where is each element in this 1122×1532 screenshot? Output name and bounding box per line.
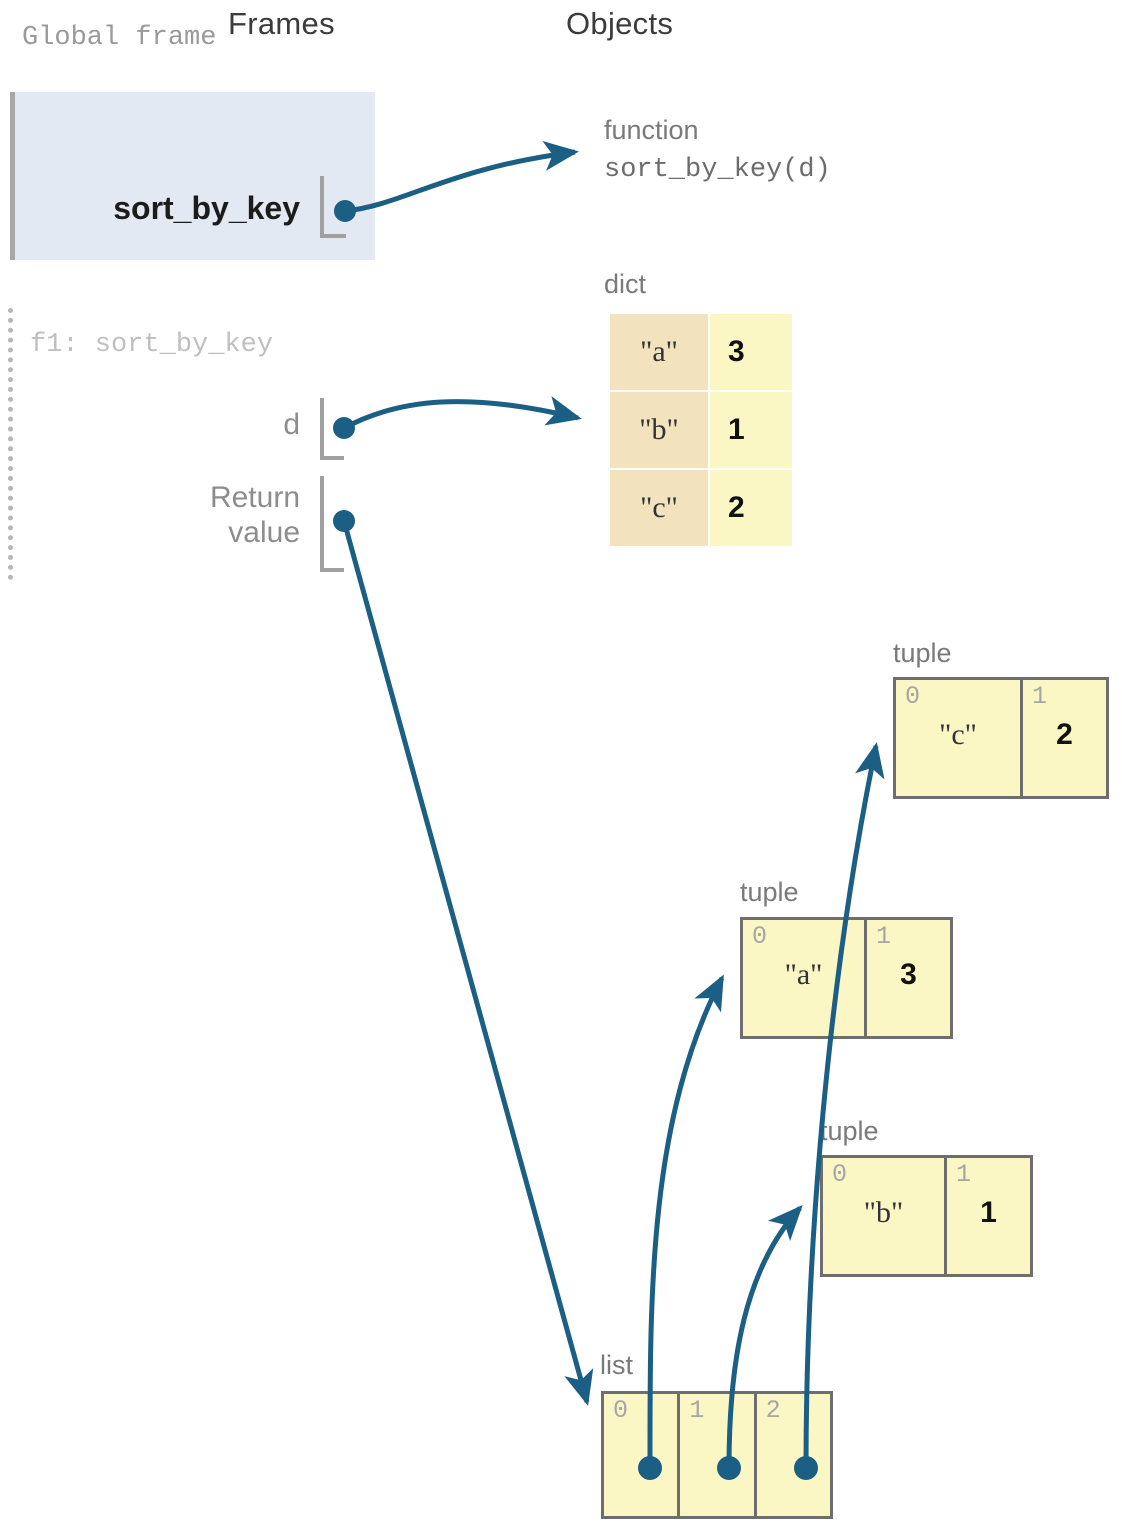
dict-table: "a" 3 "b" 1 "c" 2 <box>608 312 794 548</box>
tuple-value: "c" <box>896 718 1020 752</box>
list-object-label: list <box>600 1350 633 1381</box>
tuple-a-box: 0 "a" 1 3 <box>740 917 953 1039</box>
dict-value-cell: 3 <box>710 314 792 390</box>
list-index-label: 1 <box>689 1396 704 1425</box>
list-index-label: 0 <box>613 1396 628 1425</box>
function-keyword: function <box>604 115 699 145</box>
dict-value-cell: 2 <box>710 470 792 546</box>
variable-value-bracket <box>320 398 344 460</box>
return-label-line1: Return <box>210 481 300 514</box>
tuple-cell: 1 2 <box>1023 680 1106 796</box>
tuple-cell: 0 "b" <box>823 1158 944 1274</box>
tuple-index-label: 1 <box>956 1160 971 1189</box>
tuple-value: 2 <box>1023 718 1106 752</box>
dict-key-cell: "c" <box>610 470 708 546</box>
global-frame-title: Global frame <box>22 23 216 53</box>
variable-value-bracket <box>320 476 344 572</box>
list-box: 0 1 2 <box>601 1391 833 1519</box>
dict-key-cell: "a" <box>610 314 708 390</box>
tuple-index-label: 0 <box>752 922 767 951</box>
dict-key-cell: "b" <box>610 392 708 468</box>
dict-value-cell: 1 <box>710 392 792 468</box>
tuple-cell: 0 "a" <box>743 920 864 1036</box>
list-index-label: 2 <box>766 1396 781 1425</box>
list-cell: 1 <box>680 1394 753 1516</box>
tuple-index-label: 1 <box>876 922 891 951</box>
tuple-index-label: 0 <box>832 1160 847 1189</box>
list-cell: 2 <box>757 1394 830 1516</box>
tuple-cell: 0 "c" <box>896 680 1020 796</box>
tuple-value: 3 <box>867 958 950 992</box>
frame-variable-return-value-label: Returnvalue <box>10 480 300 551</box>
dict-object-label: dict <box>604 269 646 300</box>
function-object-label: functionsort_by_key(d) <box>604 112 831 190</box>
tuple-value: 1 <box>947 1196 1030 1230</box>
frames-column-header: Frames <box>228 6 335 42</box>
tuple-value: "a" <box>743 958 864 992</box>
pointer-return-value-to-list <box>333 510 587 1402</box>
tuple-index-label: 1 <box>1032 682 1047 711</box>
tuple-c-object-label: tuple <box>893 638 952 669</box>
frame-variable-sort-by-key-label: sort_by_key <box>10 190 300 227</box>
table-row: "b" 1 <box>610 392 792 468</box>
variable-value-bracket <box>320 176 346 238</box>
pointer-list-2-to-tuple-c <box>794 746 876 1480</box>
tuple-c-box: 0 "c" 1 2 <box>893 677 1109 799</box>
frame-variable-d-label: d <box>10 408 300 442</box>
objects-column-header: Objects <box>566 6 673 42</box>
return-label-line2: value <box>228 516 300 549</box>
f1-frame-title: f1: sort_by_key <box>30 330 273 360</box>
tuple-cell: 1 3 <box>867 920 950 1036</box>
tuple-b-box: 0 "b" 1 1 <box>820 1155 1033 1277</box>
tuple-a-object-label: tuple <box>740 877 799 908</box>
tuple-value: "b" <box>823 1196 944 1230</box>
table-row: "c" 2 <box>610 470 792 546</box>
tuple-cell: 1 1 <box>947 1158 1030 1274</box>
tuple-index-label: 0 <box>905 682 920 711</box>
tuple-b-object-label: tuple <box>820 1116 879 1147</box>
table-row: "a" 3 <box>610 314 792 390</box>
list-cell: 0 <box>604 1394 677 1516</box>
function-signature: sort_by_key(d) <box>604 155 831 185</box>
